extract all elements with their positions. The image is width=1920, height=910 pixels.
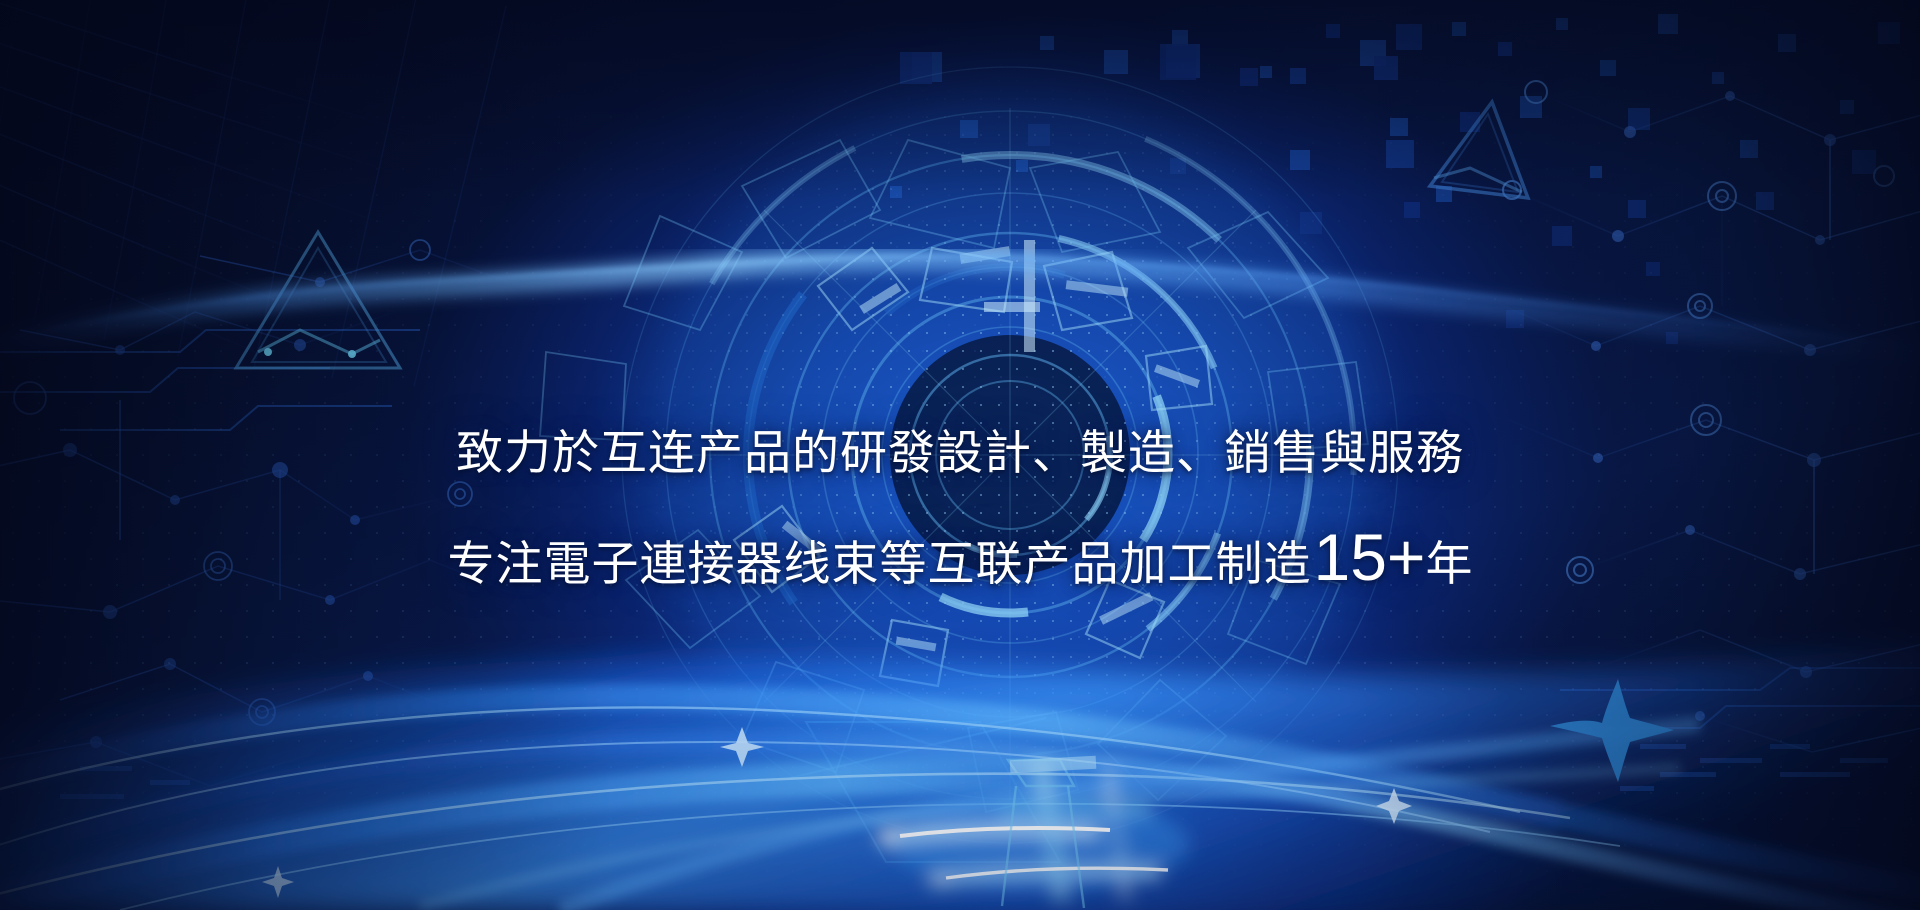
sparkle-star-mid [720, 727, 764, 767]
hero-banner: 致力於互连产品的研發設計、製造、銷售與服務 专注電子連接器线束等互联产品加工制造… [0, 0, 1920, 910]
sparkle-star-left [262, 866, 294, 898]
headline-line-1: 致力於互连产品的研發設計、製造、銷售與服務 [0, 424, 1920, 482]
headline-line-2-prefix: 专注電子連接器线束等互联产品加工制造 [448, 533, 1312, 595]
headline-block: 致力於互连产品的研發設計、製造、銷售與服務 专注電子連接器线束等互联产品加工制造… [0, 424, 1920, 595]
wireframe-triangle-right [1430, 102, 1528, 198]
headline-line-2: 专注電子連接器线束等互联产品加工制造 15+ 年 [0, 526, 1920, 595]
sparkle-star-small [1376, 788, 1412, 824]
sparkle-star-right [1550, 679, 1674, 782]
headline-years-number: 15+ [1314, 526, 1426, 588]
headline-years-unit: 年 [1425, 533, 1472, 595]
wireframe-triangle-left [236, 232, 400, 368]
